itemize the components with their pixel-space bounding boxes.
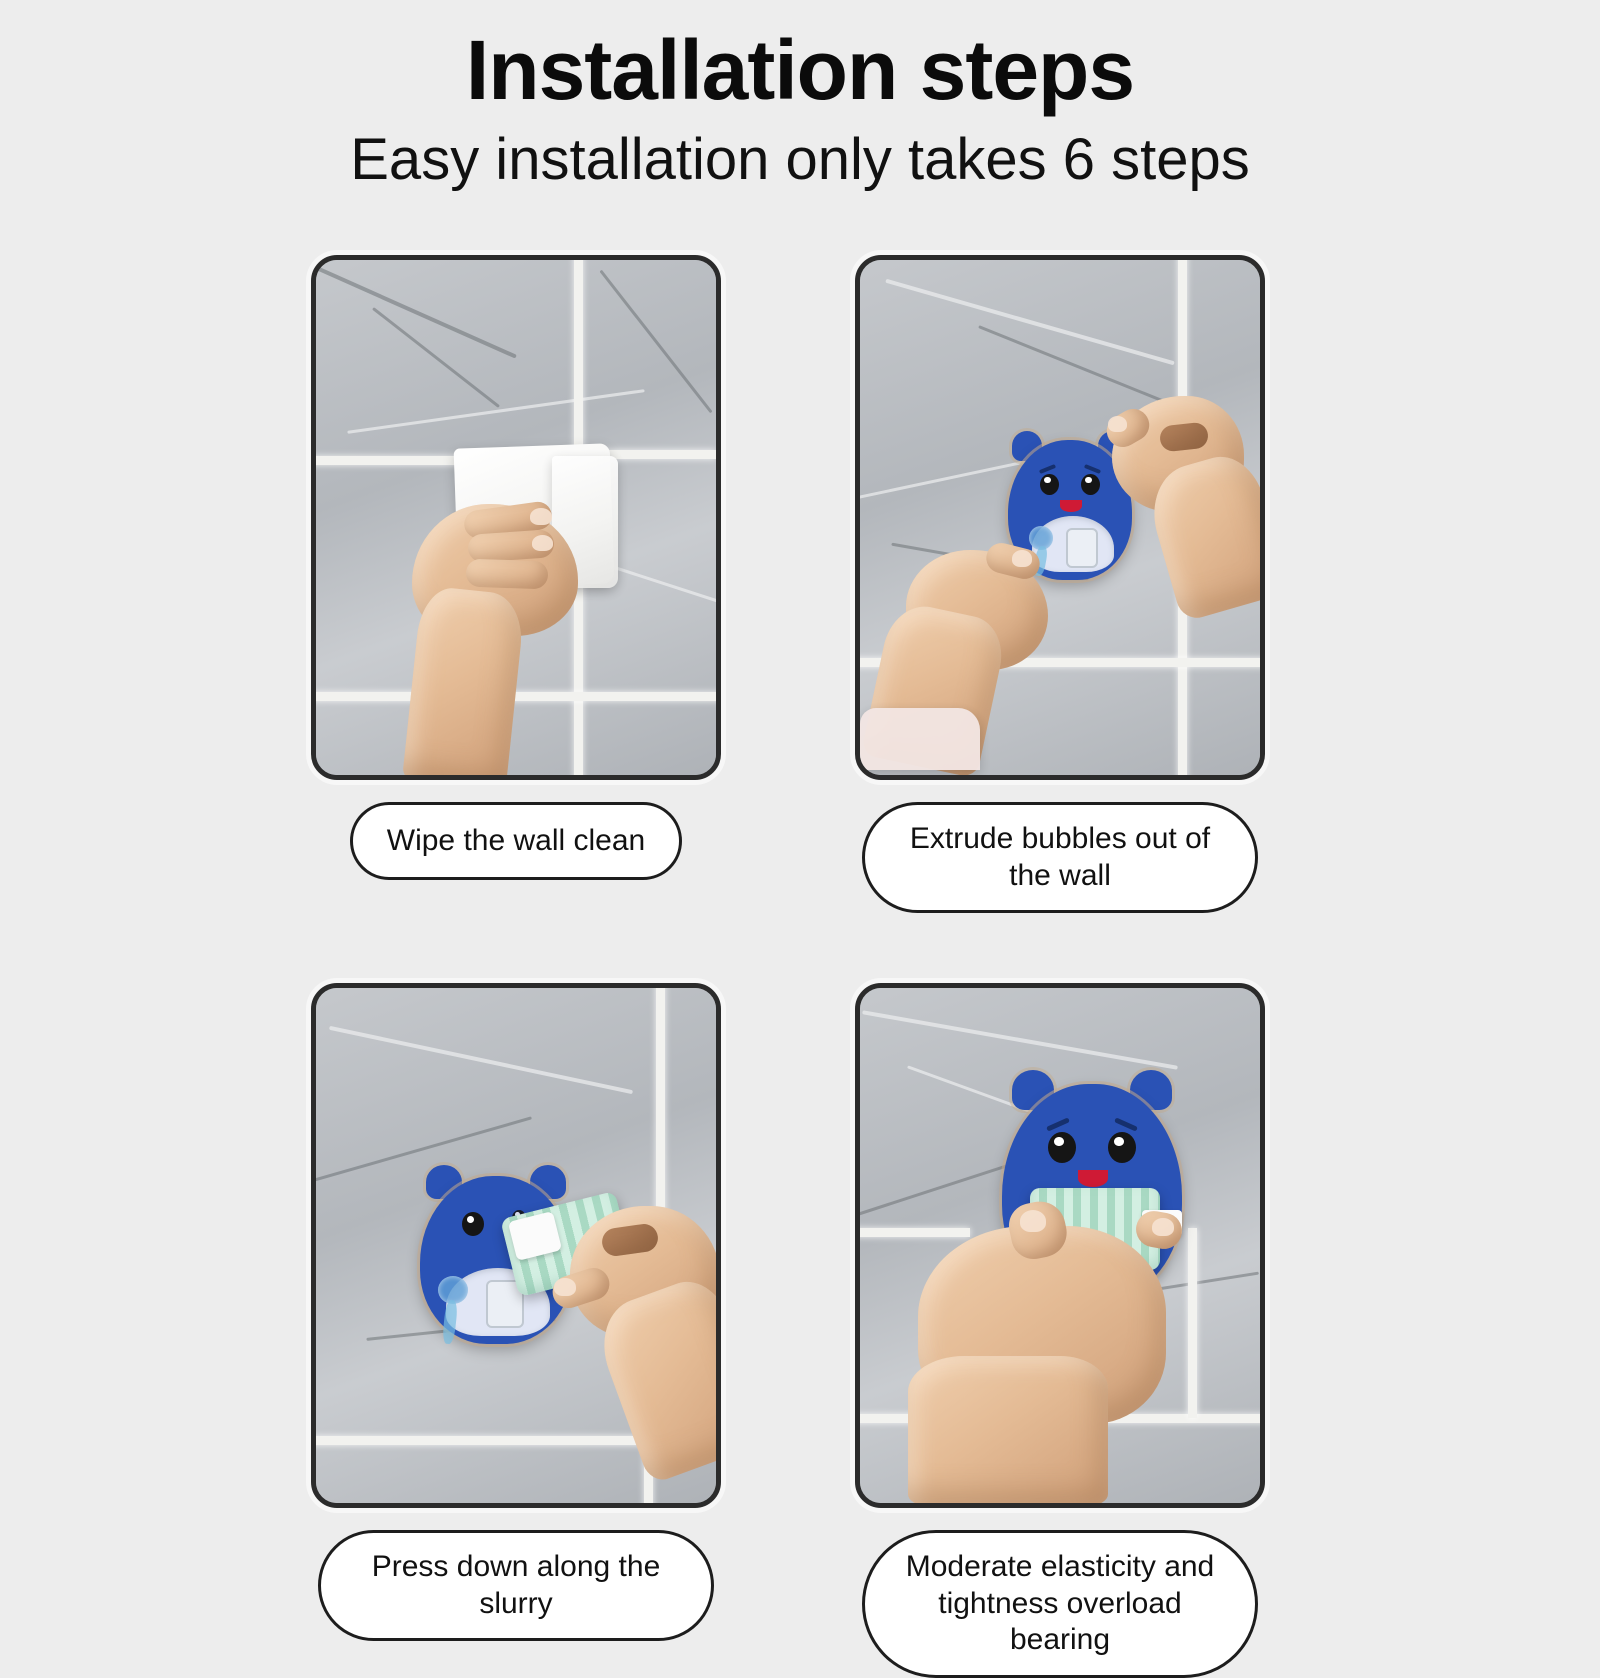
step-card-4: Moderate elasticity and tightness overlo… [856,983,1264,1678]
page-title: Installation steps [0,0,1600,114]
step-photo-4 [855,983,1265,1508]
fingernail [1020,1210,1046,1232]
fingernail [532,535,553,551]
grout-line-vertical [1188,1228,1197,1418]
grout-line-horizontal [311,692,721,701]
fingernail [1108,416,1127,432]
fingernail [554,1278,576,1296]
fingernail [1152,1218,1174,1236]
sleeve-cuff [860,708,980,770]
installation-steps-grid: Wipe the wall clean [312,255,1288,1678]
step-photo-1 [311,255,721,780]
grout-line-horizontal [855,1228,970,1237]
hook-mount-slot [1066,528,1098,568]
step-caption-4: Moderate elasticity and tightness overlo… [862,1530,1258,1678]
page-subtitle: Easy installation only takes 6 steps [0,114,1600,191]
step-photo-3 [311,983,721,1508]
bear-eye-left [1048,1132,1076,1163]
bear-eye-left [1040,474,1059,495]
step-card-1: Wipe the wall clean [312,255,720,913]
step-card-3: Press down along the slurry [312,983,720,1678]
step-card-2: Extrude bubbles out of the wall [856,255,1264,913]
finger [466,559,549,590]
step-photo-2 [855,255,1265,780]
forearm [908,1356,1108,1506]
page-header: Installation steps Easy installation onl… [0,0,1600,191]
bear-eye-left [462,1212,484,1236]
bear-eye-right [1081,474,1100,495]
step-caption-2: Extrude bubbles out of the wall [862,802,1258,913]
fingernail [1012,550,1032,567]
bear-mouth [1060,500,1082,512]
step-caption-1: Wipe the wall clean [350,802,682,880]
bear-eye-right [1108,1132,1136,1163]
fingernail [530,508,552,525]
step-caption-3: Press down along the slurry [318,1530,714,1641]
